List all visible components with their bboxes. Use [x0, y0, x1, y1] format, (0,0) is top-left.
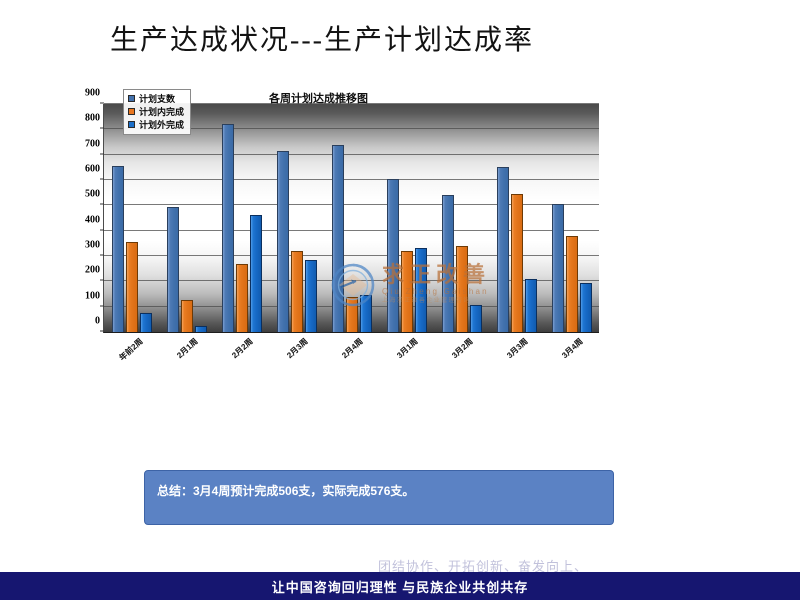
legend-label-0: 计划支数 [139, 92, 175, 105]
y-axis-tick-label: 0 [95, 316, 100, 327]
chart-bar [552, 204, 564, 332]
legend-swatch-planned-count [128, 95, 135, 102]
y-axis-tick-label: 300 [85, 240, 100, 251]
bar-group: 3月4周 [544, 104, 599, 332]
bar-group: 2月1周 [159, 104, 214, 332]
y-axis-tick-label: 200 [85, 265, 100, 276]
bar-group: 2月3周 [269, 104, 324, 332]
chart-bar [566, 236, 578, 332]
y-axis-tick-label: 500 [85, 189, 100, 200]
bar-group: 年前2周 [104, 104, 159, 332]
chart-bar [126, 242, 138, 332]
x-axis-tick-label: 3月1周 [394, 336, 420, 361]
x-axis-tick-label: 2月3周 [284, 336, 310, 361]
chart-title: 各周计划达成推移图 [269, 90, 368, 106]
legend-label-2: 计划外完成 [139, 118, 184, 131]
x-axis-tick-label: 2月2周 [229, 336, 255, 361]
chart-legend: 计划支数 计划内完成 计划外完成 [123, 89, 191, 135]
chart-bar [332, 145, 344, 332]
footer-bar: 让中国咨询回归理性 与民族企业共创共存 [0, 572, 800, 600]
y-axis-tick-label: 600 [85, 164, 100, 175]
chart-bar [470, 305, 482, 332]
chart-bar [360, 295, 372, 332]
x-axis-tick-label: 年前2周 [117, 336, 146, 363]
summary-text: 总结：3月4周预计完成506支，实际完成576支。 [157, 482, 414, 499]
y-axis-tick-label: 100 [85, 290, 100, 301]
chart-bar [580, 283, 592, 332]
x-axis-tick-label: 3月2周 [449, 336, 475, 361]
chart-bar [140, 313, 152, 332]
bar-group: 2月4周 [324, 104, 379, 332]
chart-bar [250, 215, 262, 332]
chart-container: 0100200300400500600700800900年前2周2月1周2月2周… [72, 86, 604, 348]
chart-bar [511, 194, 523, 332]
chart-bar [167, 207, 179, 332]
chart-bar [181, 300, 193, 332]
chart-bar [195, 326, 207, 332]
chart-bar [401, 251, 413, 332]
legend-label-1: 计划内完成 [139, 105, 184, 118]
y-axis-tick-label: 900 [85, 88, 100, 99]
chart-bar [236, 264, 248, 332]
chart-bar [497, 167, 509, 332]
x-axis-tick-label: 2月1周 [174, 336, 200, 361]
chart-bar [112, 166, 124, 332]
chart-bar [525, 279, 537, 332]
chart-bar [442, 195, 454, 332]
footer-slogan: 让中国咨询回归理性 与民族企业共创共存 [0, 577, 800, 596]
x-axis-tick-label: 3月4周 [559, 336, 585, 361]
x-axis-tick-label: 3月3周 [504, 336, 530, 361]
chart-bar [387, 179, 399, 332]
y-axis-tick-label: 800 [85, 113, 100, 124]
bar-group: 3月3周 [489, 104, 544, 332]
bar-group: 3月1周 [379, 104, 434, 332]
legend-item-2: 计划外完成 [128, 118, 184, 131]
bar-group: 2月2周 [214, 104, 269, 332]
legend-item-0: 计划支数 [128, 92, 184, 105]
chart-bar [415, 248, 427, 332]
x-axis-tick-label: 2月4周 [339, 336, 365, 361]
legend-item-1: 计划内完成 [128, 105, 184, 118]
y-axis-tick-label: 400 [85, 214, 100, 225]
chart-plot-area: 0100200300400500600700800900年前2周2月1周2月2周… [103, 104, 599, 333]
chart-bar [305, 260, 317, 332]
chart-bar [346, 297, 358, 332]
chart-bar [291, 251, 303, 332]
legend-swatch-in-plan-done [128, 108, 135, 115]
chart-bar [456, 246, 468, 332]
summary-box: 总结：3月4周预计完成506支，实际完成576支。 [144, 470, 614, 525]
chart-bar [222, 124, 234, 332]
y-axis-tick-label: 700 [85, 138, 100, 149]
legend-swatch-out-plan-done [128, 121, 135, 128]
chart-bar [277, 151, 289, 332]
bar-group: 3月2周 [434, 104, 489, 332]
page-title: 生产达成状况---生产计划达成率 [110, 18, 730, 58]
